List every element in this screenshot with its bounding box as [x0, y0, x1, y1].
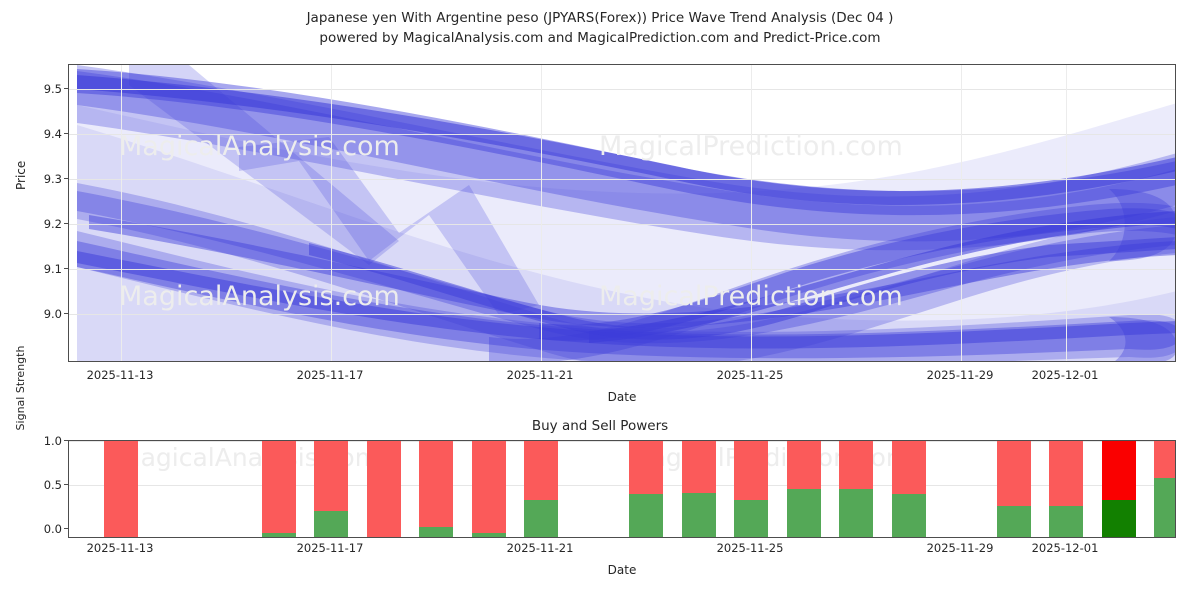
buy-segment — [682, 493, 716, 537]
sell-segment — [314, 441, 348, 511]
xtick-b-2: 2025-11-17 — [275, 541, 385, 555]
gridline-9.0 — [69, 314, 1175, 315]
gridline-9.5 — [69, 89, 1175, 90]
ytick-9.2: 9.2 — [6, 217, 62, 231]
sell-segment — [734, 441, 768, 500]
xtick-6: 2025-12-01 — [1010, 368, 1120, 382]
price-wave-chart: MagicalAnalysis.com MagicalPrediction.co… — [68, 64, 1176, 362]
buy-segment — [1049, 506, 1083, 537]
buy-segment — [472, 533, 506, 537]
xtick-2: 2025-11-17 — [275, 368, 385, 382]
date-axis-title-bottom: Date — [522, 563, 722, 577]
buy-sell-title: Buy and Sell Powers — [0, 418, 1200, 434]
gridline-9.4 — [69, 134, 1175, 135]
ytick-0.0: 0.0 — [6, 522, 62, 536]
sell-segment — [367, 441, 401, 537]
price-axis-title: Price — [14, 161, 28, 190]
signal-bar — [1102, 441, 1136, 537]
sell-segment — [262, 441, 296, 533]
signal-bar — [787, 441, 821, 537]
buy-segment — [314, 511, 348, 537]
sell-segment — [1102, 441, 1136, 500]
xtick-1: 2025-11-13 — [65, 368, 175, 382]
xtick-b-3: 2025-11-21 — [485, 541, 595, 555]
xtick-5: 2025-11-29 — [905, 368, 1015, 382]
xtick-b-5: 2025-11-29 — [905, 541, 1015, 555]
signal-bar — [262, 441, 296, 537]
ytick-9.0: 9.0 — [6, 307, 62, 321]
signal-bar — [892, 441, 926, 537]
buy-segment — [419, 527, 453, 537]
signal-bar — [629, 441, 663, 537]
ytick-0.5: 0.5 — [6, 478, 62, 492]
signal-bar — [367, 441, 401, 537]
vgridline-2 — [331, 65, 332, 361]
signal-bar — [734, 441, 768, 537]
buy-segment — [892, 494, 926, 537]
vgridline-3 — [541, 65, 542, 361]
vgridline-4 — [751, 65, 752, 361]
buy-segment — [524, 500, 558, 537]
signal-bar — [997, 441, 1031, 537]
title-line-2: powered by MagicalAnalysis.com and Magic… — [0, 28, 1200, 48]
sell-segment — [682, 441, 716, 493]
gridline-9.2 — [69, 224, 1175, 225]
ytick-9.1: 9.1 — [6, 262, 62, 276]
chart-page: Japanese yen With Argentine peso (JPYARS… — [0, 0, 1200, 600]
price-wave-bands — [69, 65, 1176, 362]
sell-segment — [892, 441, 926, 494]
sell-segment — [524, 441, 558, 500]
buy-segment — [629, 494, 663, 537]
signal-bar — [472, 441, 506, 537]
signal-bar — [1154, 441, 1176, 537]
xtick-b-6: 2025-12-01 — [1010, 541, 1120, 555]
buy-segment — [787, 489, 821, 537]
sell-segment — [997, 441, 1031, 506]
title-line-1: Japanese yen With Argentine peso (JPYARS… — [0, 8, 1200, 28]
sell-segment — [1154, 441, 1176, 478]
sell-segment — [472, 441, 506, 533]
gridline-9.3 — [69, 179, 1175, 180]
sell-segment — [839, 441, 873, 489]
xtick-4: 2025-11-25 — [695, 368, 805, 382]
sell-segment — [787, 441, 821, 489]
xtick-b-4: 2025-11-25 — [695, 541, 805, 555]
vgridline-5 — [961, 65, 962, 361]
xtick-b-1: 2025-11-13 — [65, 541, 175, 555]
buy-segment — [1154, 478, 1176, 537]
gridline-9.1 — [69, 269, 1175, 270]
signal-bar — [524, 441, 558, 537]
sell-segment — [1049, 441, 1083, 506]
signal-bar — [419, 441, 453, 537]
signal-bar — [1049, 441, 1083, 537]
sell-segment — [419, 441, 453, 527]
buy-segment — [262, 533, 296, 537]
signal-bar — [839, 441, 873, 537]
ytick-9.4: 9.4 — [6, 127, 62, 141]
buy-segment — [839, 489, 873, 537]
signal-bar — [682, 441, 716, 537]
sell-segment — [629, 441, 663, 494]
signal-axis-title: Signal Strength — [14, 333, 27, 443]
buy-segment — [1102, 500, 1136, 537]
signal-bar — [314, 441, 348, 537]
vgridline-6 — [1066, 65, 1067, 361]
ytick-9.5: 9.5 — [6, 82, 62, 96]
signal-bar — [104, 441, 138, 537]
xtick-3: 2025-11-21 — [485, 368, 595, 382]
page-title: Japanese yen With Argentine peso (JPYARS… — [0, 8, 1200, 48]
date-axis-title-top: Date — [522, 390, 722, 404]
sell-segment — [104, 441, 138, 537]
buy-segment — [734, 500, 768, 537]
vgridline-1 — [121, 65, 122, 361]
buy-segment — [997, 506, 1031, 537]
buy-sell-chart: MagicalAnalysis.com MagicalPrediction.co… — [68, 440, 1176, 538]
